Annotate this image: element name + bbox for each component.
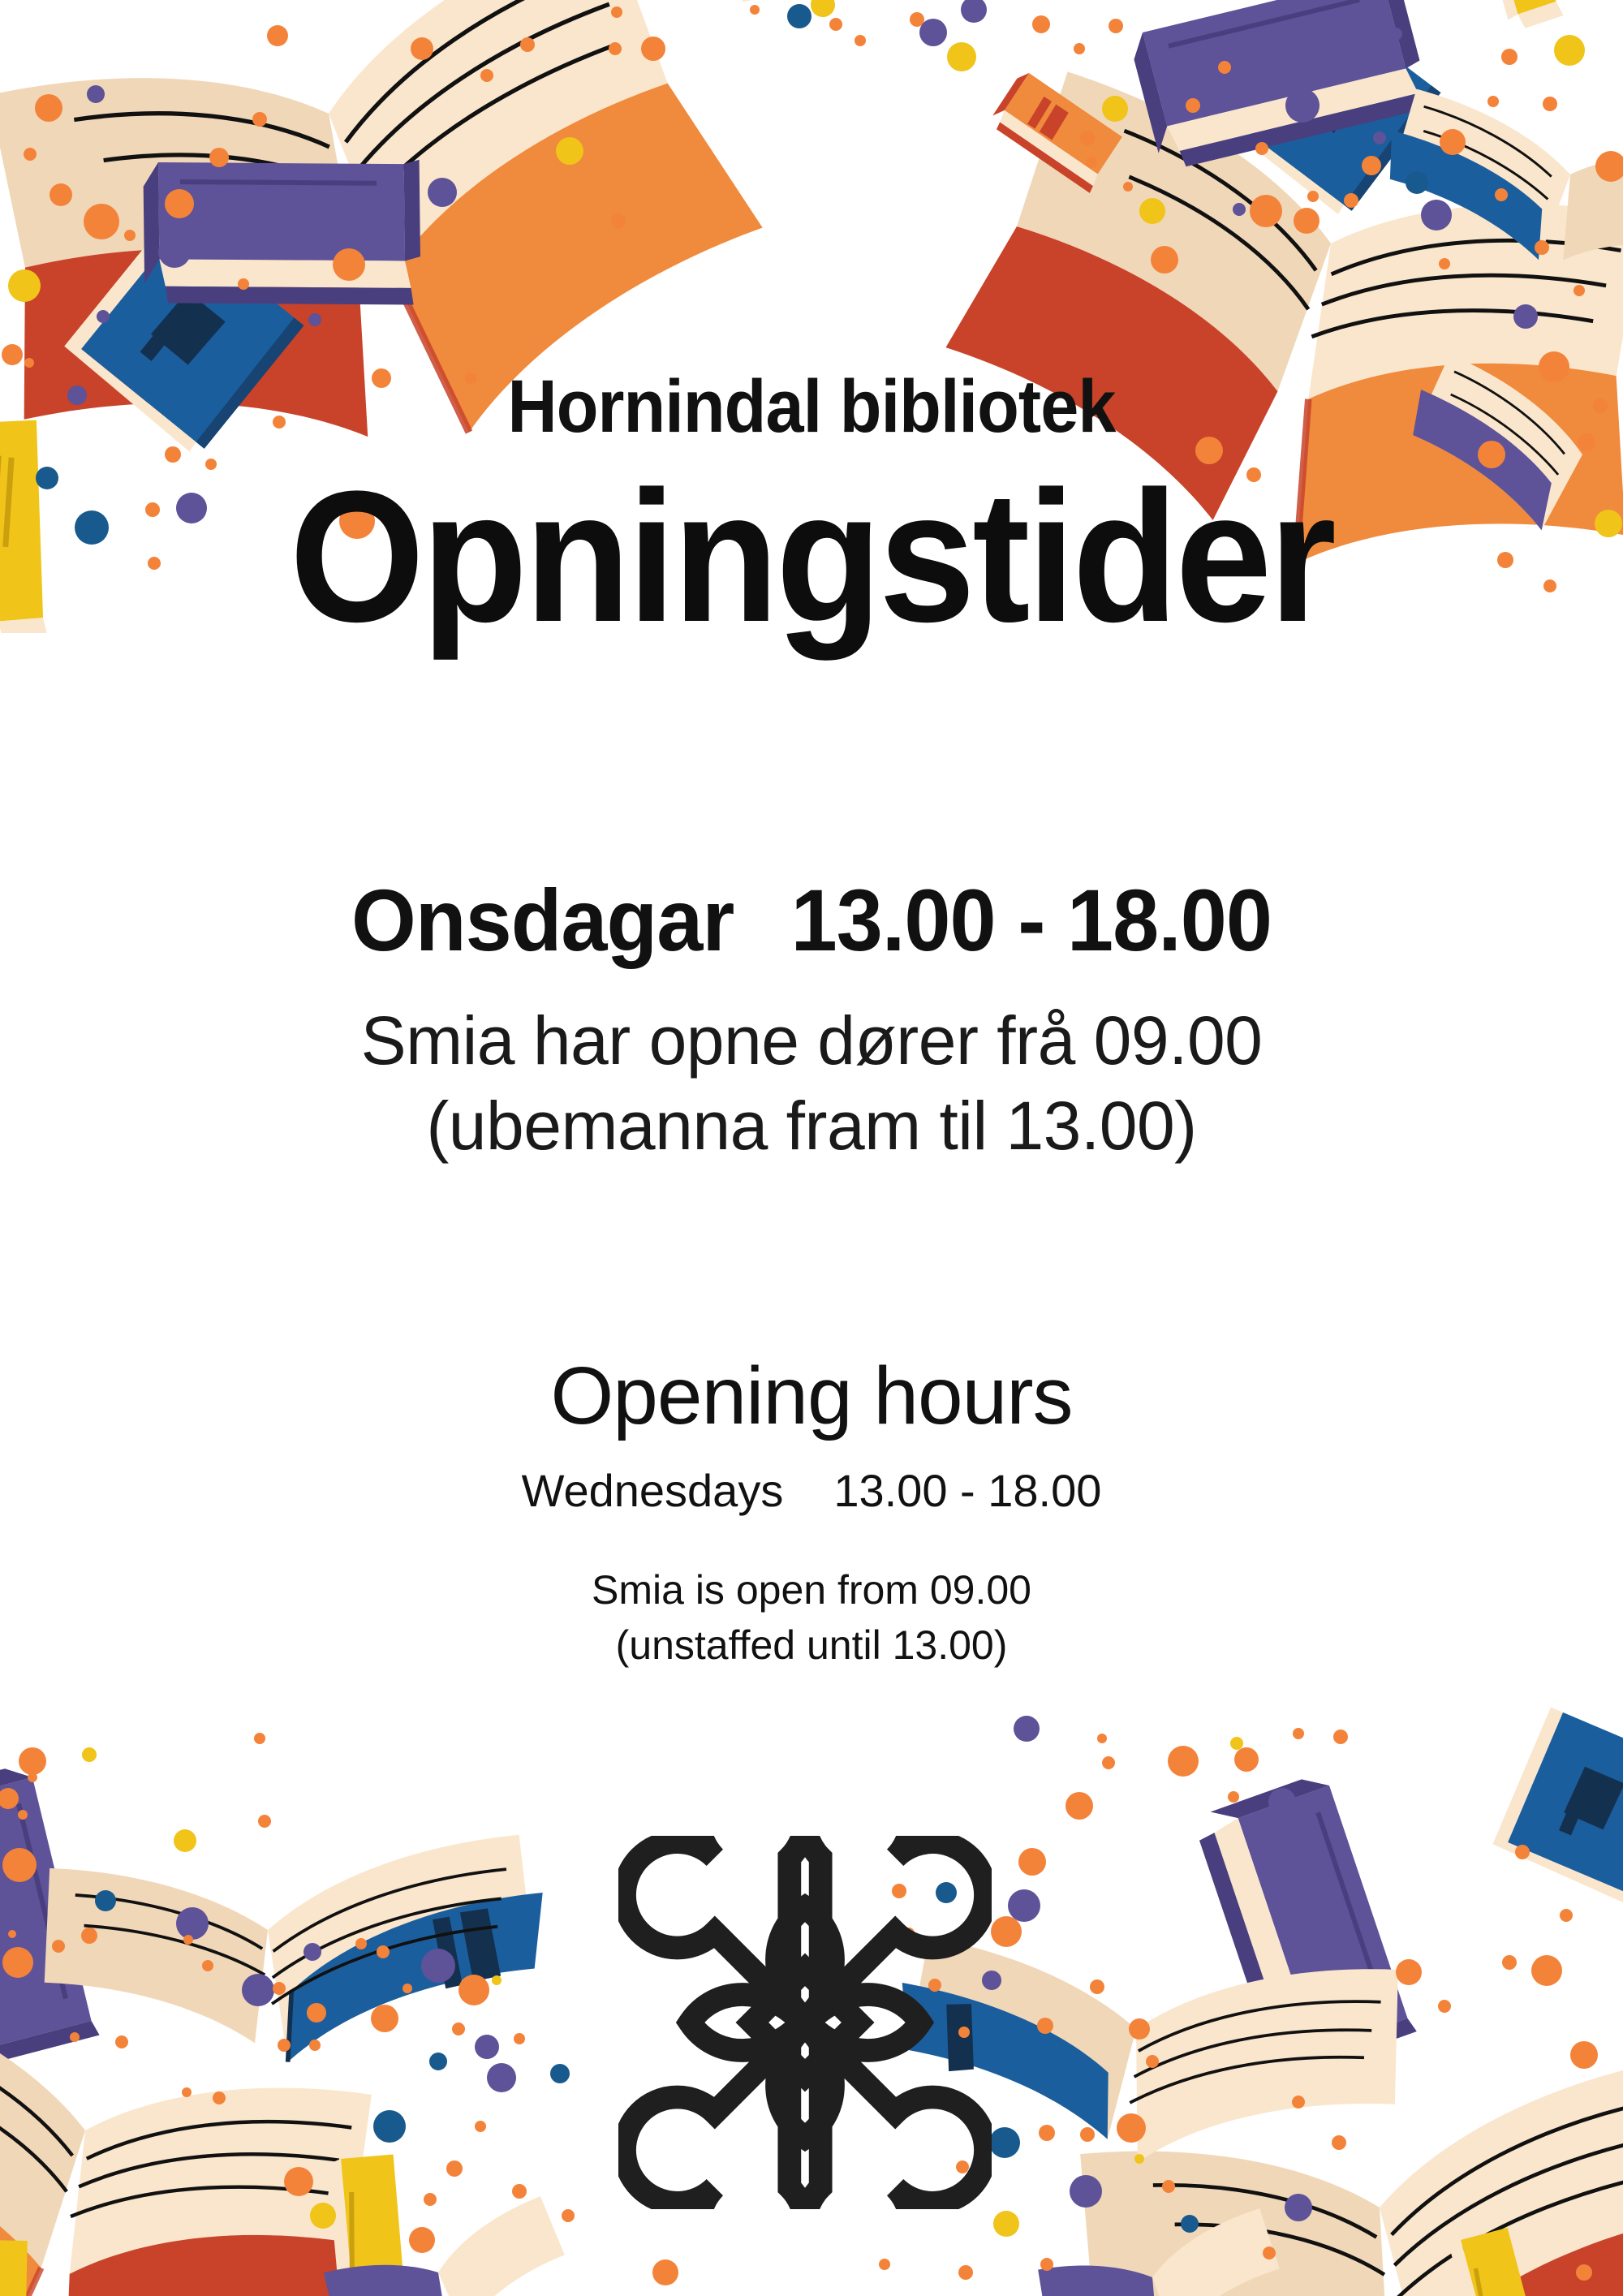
norwegian-hours-block: Onsdagar13.00 - 18.00 Smia har opne døre…	[0, 872, 1623, 1169]
english-note: Smia is open from 09.00 (unstaffed until…	[0, 1563, 1623, 1673]
english-hours-block: Opening hours Wednesdays13.00 - 18.00 Sm…	[0, 1351, 1623, 1673]
poster-canvas: Hornindal bibliotek Opningstider Onsdaga…	[0, 0, 1623, 2296]
norwegian-note-line-2: (ubemanna fram til 13.00)	[0, 1083, 1623, 1169]
poster-content: Hornindal bibliotek Opningstider Onsdaga…	[0, 0, 1623, 2296]
organisation-name: Hornindal bibliotek	[65, 369, 1558, 444]
norwegian-hours-line: Onsdagar13.00 - 18.00	[41, 872, 1582, 969]
english-note-line-1: Smia is open from 09.00	[0, 1563, 1623, 1618]
english-note-line-2: (unstaffed until 13.00)	[0, 1618, 1623, 1674]
title-block: Hornindal bibliotek Opningstider	[0, 369, 1623, 655]
english-day: Wednesdays	[522, 1463, 784, 1518]
page-title: Opningstider	[57, 459, 1566, 655]
english-section-title: Opening hours	[0, 1351, 1623, 1441]
norwegian-note-line-1: Smia har opne dører frå 09.00	[0, 998, 1623, 1083]
norwegian-time: 13.00 - 18.00	[791, 872, 1272, 969]
norwegian-day: Onsdagar	[351, 872, 734, 969]
english-hours-line: Wednesdays13.00 - 18.00	[0, 1463, 1623, 1518]
nordic-knot-logo	[618, 1836, 992, 2209]
norwegian-note: Smia har opne dører frå 09.00 (ubemanna …	[0, 998, 1623, 1169]
english-time: 13.00 - 18.00	[833, 1465, 1101, 1516]
